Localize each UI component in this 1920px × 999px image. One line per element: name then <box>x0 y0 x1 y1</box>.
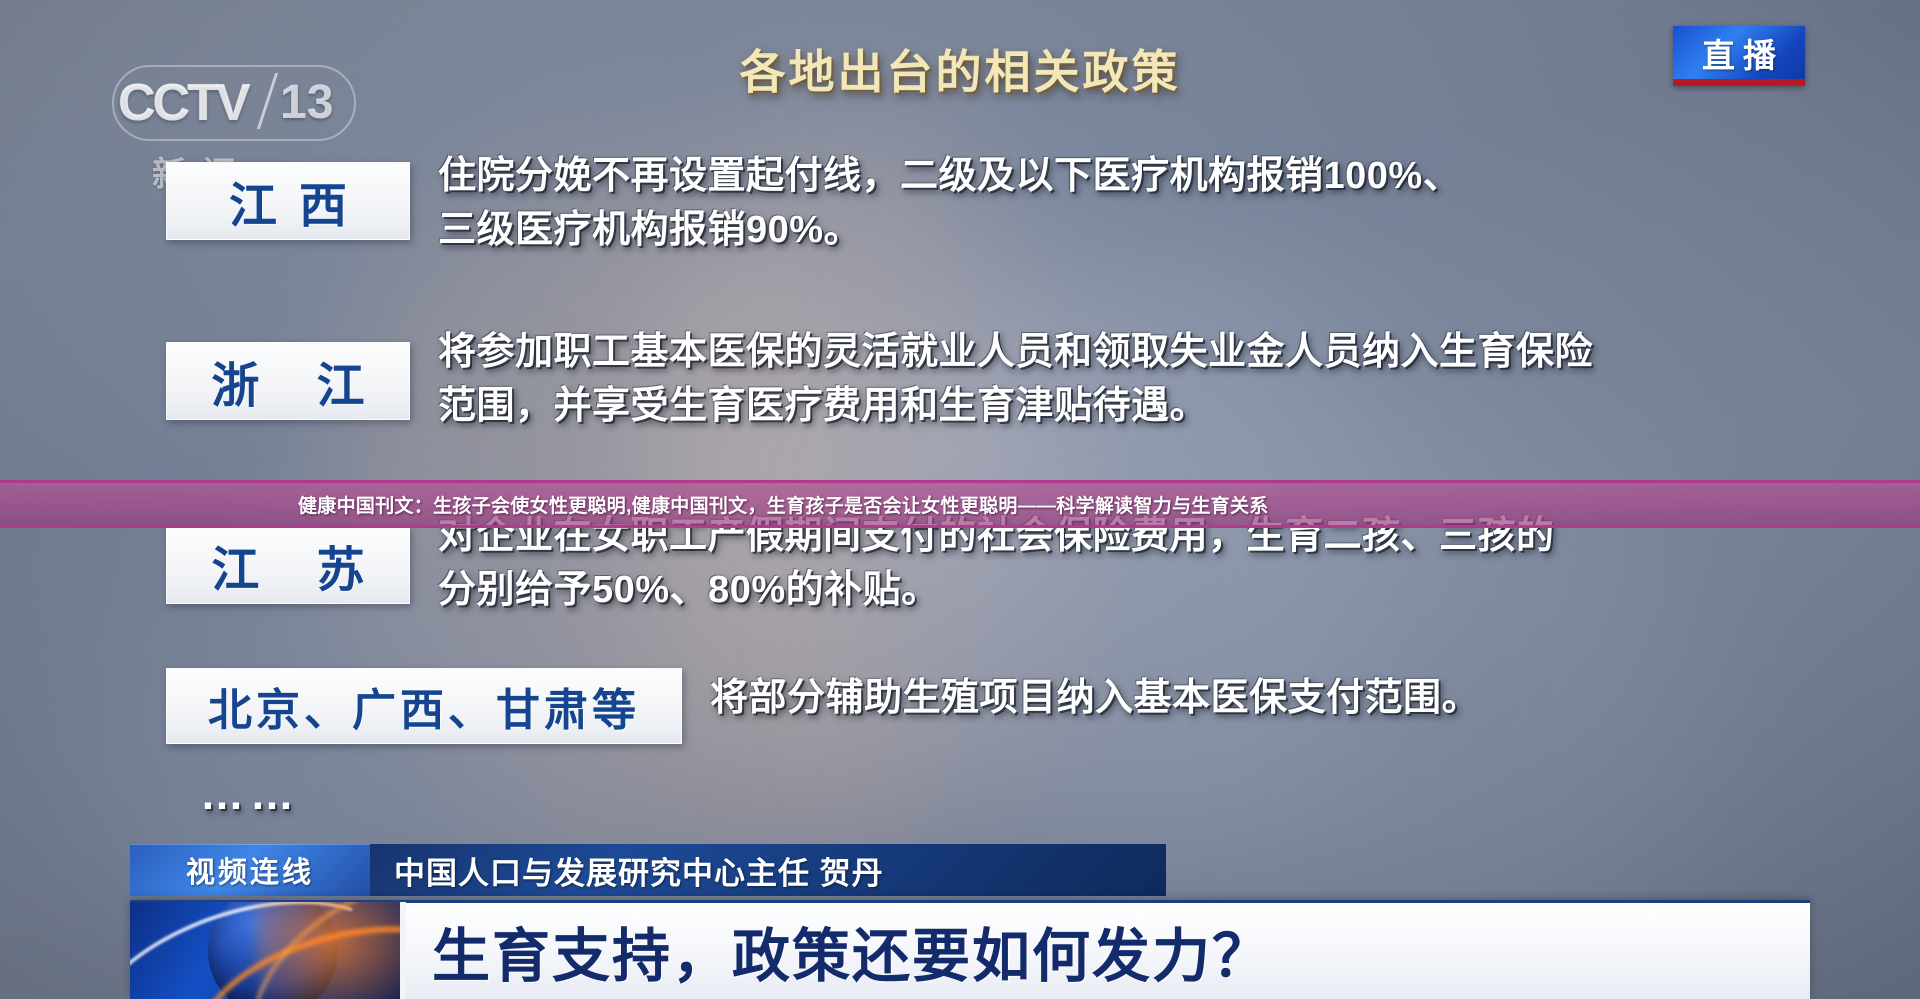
policy-line: 范围，并享受生育医疗费用和生育津贴待遇。 <box>438 380 1593 434</box>
policy-line: 分别给予50%、80%的补贴。 <box>438 564 1555 618</box>
live-badge-label: 直播 <box>1694 29 1784 77</box>
province-chip: 北京、广西、甘肃等 <box>166 668 682 744</box>
lower-third: 视频连线 中国人口与发展研究中心主任 贺丹 生育支持，政策还要如何发力？ <box>0 844 1920 999</box>
globe-edge <box>400 902 406 999</box>
policy-line: 住院分娩不再设置起付线，二级及以下医疗机构报销100%、 <box>438 150 1461 204</box>
globe-icon <box>130 902 406 999</box>
article-overlay-banner: 健康中国刊文：生孩子会使女性更聪明,健康中国刊文，生育孩子是否会让女性更聪明——… <box>0 480 1920 528</box>
policy-text-block: 住院分娩不再设置起付线，二级及以下医疗机构报销100%、 三级医疗机构报销90%… <box>438 150 1461 258</box>
policy-line: 将参加职工基本医保的灵活就业人员和领取失业金人员纳入生育保险 <box>438 326 1593 380</box>
video-link-badge: 视频连线 <box>130 844 370 896</box>
policy-text-block: 将部分辅助生殖项目纳入基本医保支付范围。 <box>710 672 1480 726</box>
headline-bar: 生育支持，政策还要如何发力？ <box>130 900 1810 999</box>
province-chip: 江西 <box>166 162 410 240</box>
province-chip: 江 苏 <box>166 526 410 604</box>
lower-third-tag-bar: 视频连线 中国人口与发展研究中心主任 贺丹 <box>130 844 1166 896</box>
globe-glow <box>256 902 406 999</box>
article-overlay-text: 健康中国刊文：生孩子会使女性更聪明,健康中国刊文，生育孩子是否会让女性更聪明——… <box>298 491 1269 518</box>
policy-line: 三级医疗机构报销90%。 <box>438 204 1461 258</box>
province-chip: 浙 江 <box>166 342 410 420</box>
live-badge: 直播 <box>1673 26 1805 86</box>
ellipsis-marker: …… <box>200 770 300 820</box>
headline-text: 生育支持，政策还要如何发力？ <box>406 909 1810 993</box>
guest-name-bar: 中国人口与发展研究中心主任 贺丹 <box>370 844 1166 896</box>
policy-text-block: 将参加职工基本医保的灵活就业人员和领取失业金人员纳入生育保险 范围，并享受生育医… <box>438 326 1593 434</box>
page-title: 各地出台的相关政策 <box>0 36 1920 102</box>
policy-line: 将部分辅助生殖项目纳入基本医保支付范围。 <box>710 672 1480 726</box>
